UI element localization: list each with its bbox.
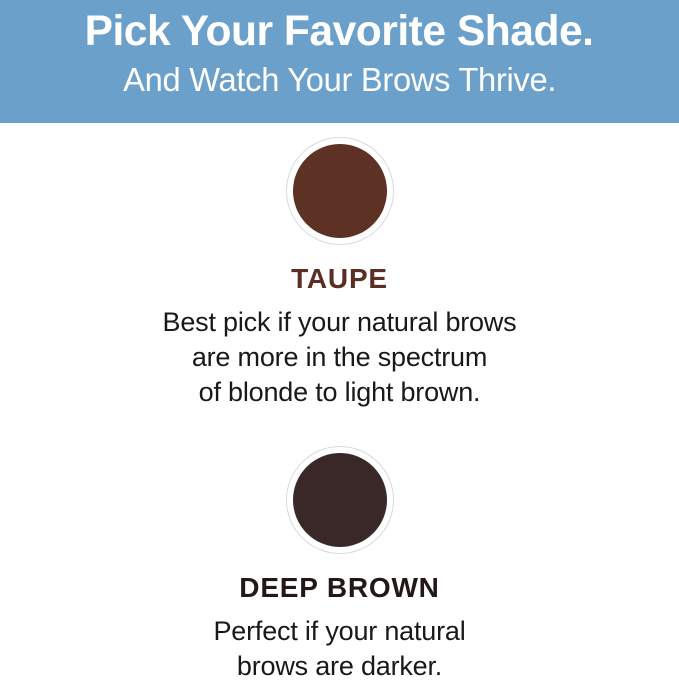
swatch-ring-taupe	[286, 137, 394, 245]
swatch-ring-deep-brown	[286, 446, 394, 554]
shade-name-deep-brown: DEEP BROWN	[239, 572, 439, 604]
shade-option-deep-brown: DEEP BROWN Perfect if your natural brows…	[0, 446, 679, 684]
description-line: Perfect if your natural	[213, 614, 465, 649]
shade-name-taupe: TAUPE	[291, 263, 388, 295]
shade-description-deep-brown: Perfect if your natural brows are darker…	[213, 614, 465, 684]
page-title: Pick Your Favorite Shade.	[85, 7, 594, 56]
description-line: Best pick if your natural brows	[163, 305, 517, 340]
header-banner: Pick Your Favorite Shade. And Watch Your…	[0, 0, 679, 123]
shade-guide-page: Pick Your Favorite Shade. And Watch Your…	[0, 0, 679, 679]
color-swatch-taupe	[293, 144, 387, 238]
color-swatch-deep-brown	[293, 453, 387, 547]
description-line: of blonde to light brown.	[163, 375, 517, 410]
shade-list: TAUPE Best pick if your natural brows ar…	[0, 123, 679, 679]
description-line: are more in the spectrum	[163, 340, 517, 375]
shade-description-taupe: Best pick if your natural brows are more…	[163, 305, 517, 410]
page-subtitle: And Watch Your Brows Thrive.	[123, 60, 556, 100]
shade-option-taupe: TAUPE Best pick if your natural brows ar…	[0, 137, 679, 410]
